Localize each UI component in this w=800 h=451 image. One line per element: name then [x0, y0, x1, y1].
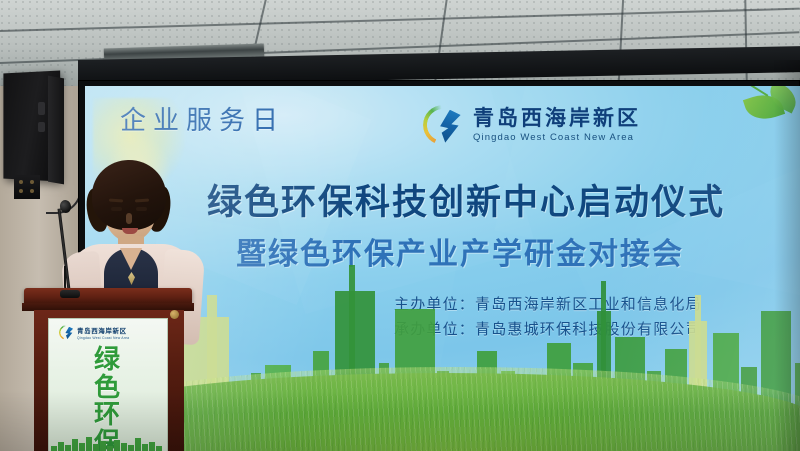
- qingdao-west-coast-logo-icon: [423, 105, 463, 145]
- skyline-building: [51, 446, 57, 451]
- skyline-building: [72, 439, 78, 451]
- podium: 青岛西海岸新区 Qingdao West Coast New Area 绿色环保…: [24, 288, 192, 451]
- podium-logo: 青岛西海岸新区 Qingdao West Coast New Area: [59, 325, 129, 340]
- skyline-building: [149, 442, 155, 451]
- skyline-building: [114, 440, 120, 451]
- podium-logo-wordmark: 青岛西海岸新区 Qingdao West Coast New Area: [77, 325, 129, 340]
- eye-right: [136, 207, 147, 211]
- podium-logo-chinese: 青岛西海岸新区: [77, 325, 129, 335]
- podium-skyline-graphic: [49, 436, 167, 451]
- right-wall-shading: [774, 60, 800, 451]
- skyline-building: [79, 443, 85, 451]
- bracket-bolt: [30, 189, 34, 193]
- podium-vertical-char: 绿: [83, 347, 131, 375]
- skyline-building: [128, 445, 134, 451]
- skyline-building: [93, 444, 99, 451]
- skyline-building: [107, 446, 113, 451]
- eye-left: [111, 207, 122, 211]
- event-title-line2: 暨绿色环保产业产学研金对接会: [236, 229, 684, 273]
- skyline-building: [86, 437, 92, 451]
- skyline-building: [135, 438, 141, 451]
- speaker-mount-bracket: [14, 175, 40, 199]
- speaker-port: [38, 122, 45, 132]
- microphone-base: [60, 290, 80, 298]
- logo-wordmark: 青岛西海岸新区 Qingdao West Coast New Area: [473, 108, 641, 143]
- skyline-building: [142, 444, 148, 451]
- podium-logo-english: Qingdao West Coast New Area: [77, 336, 129, 340]
- logo-chinese-name: 青岛西海岸新区: [473, 108, 641, 129]
- event-kicker-text: 企业服务日: [120, 100, 285, 137]
- bracket-bolt: [30, 180, 34, 184]
- qingdao-west-coast-logo-icon: [59, 325, 74, 340]
- bracket-bolt: [19, 180, 23, 184]
- skyline-building: [121, 443, 127, 451]
- podium-vertical-char: 色: [83, 375, 131, 403]
- podium-sign-panel: 青岛西海岸新区 Qingdao West Coast New Area 绿色环保…: [48, 318, 168, 451]
- speaker-port: [38, 102, 45, 115]
- screenshot-root: 企业服务日 青岛西海岸新区 Qingdao West Coast New Are…: [0, 0, 800, 451]
- district-logo: 青岛西海岸新区 Qingdao West Coast New Area: [423, 105, 641, 145]
- skyline-building: [58, 442, 64, 451]
- event-title-line1: 绿色环保科技创新中心启动仪式: [207, 174, 725, 225]
- nose: [126, 213, 132, 224]
- logo-english-name: Qingdao West Coast New Area: [473, 133, 641, 143]
- skyline-building: [100, 441, 106, 451]
- skyline-building: [65, 445, 71, 451]
- podium-knob: [170, 310, 179, 319]
- bracket-bolt: [19, 189, 23, 193]
- skyline-building: [156, 446, 162, 451]
- grass-highlight: [85, 367, 800, 451]
- podium-vertical-char: 环: [83, 402, 131, 430]
